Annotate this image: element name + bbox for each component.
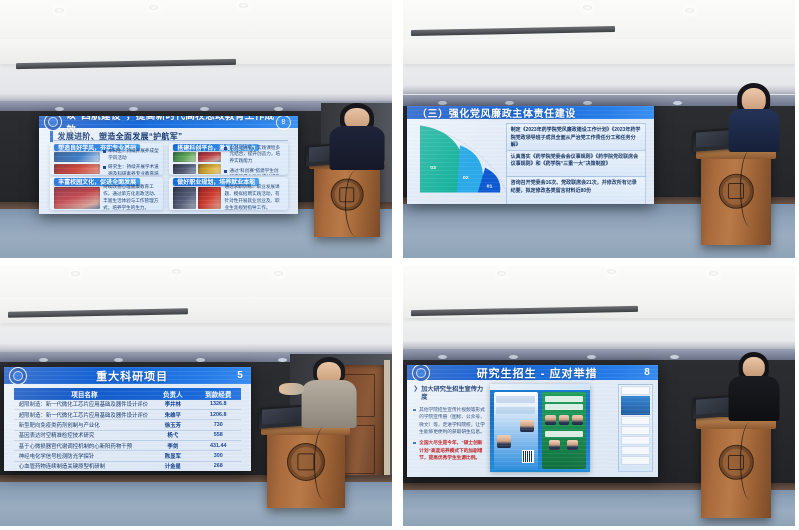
- lectern-podium: [701, 417, 772, 518]
- university-logo-icon: [412, 365, 430, 382]
- cable: [740, 150, 761, 227]
- side-panel-row: [621, 386, 650, 395]
- poster-blue-card: [494, 392, 538, 470]
- university-logo-icon: [9, 367, 27, 384]
- slide-major-research-projects: 重大科研项目 5 项目名称 负责人 到款经费 超限制造：新一代微化工芯片应用基础…: [4, 367, 251, 471]
- bullet-dot-icon: [103, 166, 106, 169]
- downlight-icon: [71, 271, 80, 276]
- fan-label-03: 03: [431, 166, 437, 171]
- slide-card: 搭建科创平台，激发创新活力 以基础课程、实践课程多元结合，提升创造力，培养实践能…: [169, 143, 288, 175]
- cable: [314, 427, 335, 500]
- lectern-podium: [701, 147, 772, 245]
- valance-spot-icon: [278, 358, 287, 362]
- photo-thumbnail: [198, 152, 221, 162]
- fan-chart: 03 02 01: [414, 123, 518, 198]
- poster-band: [545, 404, 584, 410]
- headshot-photo: [549, 440, 560, 450]
- side-panel-row: [621, 426, 650, 435]
- thumbnail-group: [54, 152, 100, 173]
- photo-thumbnail: [54, 187, 100, 209]
- valance-spot-icon: [196, 358, 205, 362]
- poster-band: [496, 396, 535, 402]
- thumbnail-group: [173, 187, 221, 209]
- speaker-person: [329, 103, 384, 170]
- side-panel-hero-image: [621, 396, 650, 415]
- slide-card: 丰富校园文化，促进全面发展 持续改善心理健康教育工作，通过单方化思政活动、丰富生…: [50, 177, 164, 210]
- cell-funding: 268: [196, 463, 241, 469]
- cable: [740, 422, 761, 500]
- photo-thumbnail: [173, 164, 196, 174]
- slide-header: （三）强化党风廉政主体责任建设: [407, 106, 654, 119]
- cell-funding: 1326.8: [196, 401, 241, 407]
- table-row: 神经电化学信号检测防光学探针 陈显军 300: [14, 451, 241, 461]
- projection-screen: 以“四航建设”，提高新时代高校思政教育工作成效 8 发展进阶、塑造全面发展“护航…: [39, 116, 298, 214]
- torso: [329, 126, 384, 170]
- column-header-funding: 到款经费: [196, 389, 241, 399]
- qr-code-icon: [522, 450, 535, 463]
- photo-thumbnail: [54, 152, 100, 162]
- cell-funding: 1206.8: [196, 412, 241, 418]
- downlight-icon: [55, 8, 64, 13]
- slide-text-column: ❯ 加大研究生招生宣传力度 其他学院招生宣传片视频等形式的学院宣传册（图标、公众…: [413, 386, 486, 471]
- downlight-icon: [607, 269, 616, 274]
- thumbnail-group: [173, 152, 221, 173]
- projection-screen: 研究生招生 - 应对举措 8 ❯ 加大研究生招生宣传力度 其他学院招生宣传片视频…: [407, 365, 658, 477]
- fan-label-01: 01: [487, 184, 493, 189]
- valance-spot-icon: [670, 355, 679, 359]
- speaker-person: [728, 352, 779, 422]
- arrow-bullet-icon: ❯: [413, 386, 418, 393]
- cell-lead: 徐玉芳: [150, 421, 195, 429]
- cell-funding: 730: [196, 422, 241, 428]
- headshot-photo: [572, 415, 583, 425]
- headshot-photo: [545, 415, 556, 425]
- column-header-project: 项目名称: [14, 389, 150, 399]
- slide-page-badge: 5: [237, 370, 243, 381]
- bullet-dot-icon: [103, 150, 106, 153]
- photo-grid: 以“四航建设”，提高新时代高校思政教育工作成效 8 发展进阶、塑造全面发展“护航…: [0, 0, 799, 530]
- valance-spot-icon: [39, 358, 48, 362]
- table-row: 心血管药物连续制造关键原型机研制 计金星 268: [14, 462, 241, 471]
- cell-funding: 431.44: [196, 443, 241, 449]
- valance-spot-icon: [438, 355, 447, 359]
- headshot-photo: [497, 435, 511, 447]
- cell-project: 神经电化学信号检测防光学探针: [14, 452, 150, 460]
- bullet-text: 以基础课程、实践课程多元结合，提升创造力，培养实践能力: [229, 145, 282, 165]
- slide-party-discipline: （三）强化党风廉政主体责任建设 03 02 01 制定: [407, 106, 654, 204]
- slide-card: 做好职业规划，培养就业本能 通过求职训练、职业发展课题、模拟招聘实践活动，有针对…: [169, 177, 288, 210]
- university-logo-icon: [44, 116, 62, 131]
- torso: [302, 380, 357, 428]
- divider: [50, 140, 288, 141]
- photo-thumbnail: [173, 187, 196, 209]
- speaker-person: [728, 83, 779, 153]
- text-block: 咨询召开党委会16次、党政联席会21次，并修改所有记录纪要，拟定修改各类留言材料…: [506, 176, 647, 203]
- cell-lead: 李剑: [150, 442, 195, 450]
- raised-arm: [279, 383, 304, 395]
- headshot-photo: [567, 440, 578, 450]
- bullet-dot-icon: [224, 147, 227, 150]
- photo-panel-top-left: 以“四航建设”，提高新时代高校思政教育工作成效 8 发展进阶、塑造全面发展“护航…: [0, 0, 392, 258]
- research-projects-table: 项目名称 负责人 到款经费 超限制造：新一代微化工芯片应用基础及器件设计评价 李…: [14, 388, 241, 465]
- cell-project: 基于心微损器官代谢调控机制的心新阳药物干预: [14, 442, 150, 450]
- poster-green-card: [542, 392, 586, 470]
- bullet-dot-icon: [224, 170, 227, 173]
- thumbnail-group: [54, 187, 100, 209]
- valance-spot-icon: [587, 355, 596, 359]
- ceiling-soffit: [403, 39, 795, 65]
- headshot-photo: [520, 420, 534, 432]
- side-panel-row: [621, 456, 650, 465]
- cell-project: 超限制造：新一代微化工芯片应用基础及器件设计评价: [14, 411, 150, 419]
- poster-band: [496, 407, 535, 413]
- side-panel-row: [621, 416, 650, 425]
- fan-label-02: 02: [463, 176, 469, 181]
- photo-panel-bottom-left: 重大科研项目 5 项目名称 负责人 到款经费 超限制造：新一代微化工芯片应用基础…: [0, 266, 392, 526]
- slide-header: 研究生招生 - 应对举措 8: [407, 365, 658, 381]
- valance-spot-icon: [114, 358, 123, 362]
- paragraph: 其他学院招生宣传片视频等形式的学院宣传册（图标、公众号、微文）等，走进学科院校，…: [413, 406, 486, 435]
- cell-lead: 计金星: [150, 462, 195, 470]
- bullet-text: 研究生：持续开展学术道德及科研素养专业教育培: [108, 164, 159, 174]
- slide-title: 研究生招生 - 应对举措: [430, 365, 644, 381]
- photo-thumbnail: [54, 164, 100, 174]
- cell-lead: 李井林: [150, 400, 195, 408]
- torso: [728, 109, 779, 152]
- downlight-icon: [239, 3, 248, 8]
- slide-header: 重大科研项目 5: [4, 367, 251, 384]
- paragraph-highlight: 全国大尽生是今年，“硕士创新计划”高度培养模式下的加剧增节，提高优秀学生生源比例…: [413, 439, 486, 461]
- slide-card: 塑造良好学风，夯实专业基础 本科生：持续开展养成型学风活动 研究生：持续开展学术…: [50, 143, 164, 175]
- slide-graduate-recruitment: 研究生招生 - 应对举措 8 ❯ 加大研究生招生宣传力度 其他学院招生宣传片视频…: [407, 365, 658, 477]
- cell-project: 心血管药物连续制造关键原型机研制: [14, 462, 150, 470]
- slide-title: 重大科研项目: [27, 368, 237, 384]
- bullet-text: 通过“科创赛”搭建学生创新实践平台推动成长提升: [229, 168, 282, 175]
- cell-funding: 558: [196, 432, 241, 438]
- door-frame: [384, 360, 390, 487]
- fan-chart-svg: 03 02 01: [414, 123, 518, 198]
- slide-page-badge: 8: [276, 116, 291, 130]
- section-heading: 加大研究生招生宣传力度: [421, 386, 486, 402]
- projection-screen: （三）强化党风廉政主体责任建设 03 02 01 制定: [407, 106, 654, 204]
- photo-thumbnail: [173, 152, 196, 162]
- photo-panel-bottom-right: 研究生招生 - 应对举措 8 ❯ 加大研究生招生宣传力度 其他学院招生宣传片视频…: [403, 266, 795, 526]
- table-row: 超限制造：新一代微化工芯片应用基础及器件设计评价 朱维平 1206.8: [14, 410, 241, 420]
- torso: [728, 376, 779, 421]
- poster-side-panel: [618, 384, 653, 472]
- poster-top-banner: [490, 384, 590, 390]
- slide-header: 以“四航建设”，提高新时代高校思政教育工作成效 8: [39, 116, 298, 128]
- table-row: 基因表达时空精准检控技术研究 杨弋 558: [14, 431, 241, 441]
- cell-lead: 杨弋: [150, 431, 195, 439]
- card-paragraph: 持续改善心理健康教育工作，通过单方化思政活动、丰富生活体验与工作管理方式，培养学…: [103, 184, 159, 210]
- poster-band: [545, 431, 584, 437]
- card-paragraph: 通过求职训练、职业发展课题、模拟招聘实践活动，有针对性开展就业创业及、职业生涯规…: [224, 184, 282, 210]
- fan-segment-02: [457, 146, 483, 193]
- table-row: 基于心微损器官代谢调控机制的心新阳药物干预 李剑 431.44: [14, 441, 241, 451]
- downlight-icon: [172, 269, 181, 274]
- poster-band: [545, 396, 584, 402]
- cell-funding: 300: [196, 453, 241, 459]
- photo-thumbnail: [198, 164, 221, 174]
- valance-spot-icon: [509, 355, 518, 359]
- cell-lead: 朱维平: [150, 411, 195, 419]
- table-row: 新型靶向免疫类药剂创制与产业化 徐玉芳 730: [14, 420, 241, 430]
- table-row: 超限制造：新一代微化工芯片应用基础及器件设计评价 李井林 1326.8: [14, 400, 241, 410]
- slide-four-constructions: 以“四航建设”，提高新时代高校思政教育工作成效 8 发展进阶、塑造全面发展“护航…: [39, 116, 298, 214]
- cell-lead: 陈显军: [150, 452, 195, 460]
- side-panel-row: [621, 436, 650, 445]
- column-header-lead: 负责人: [150, 389, 195, 399]
- slide-page-badge: 8: [644, 367, 650, 378]
- text-block: 制定《2023年药学院党风廉政建设工作计划》《2023年药学院党政领导班子成员全…: [506, 123, 647, 153]
- headshot-photo: [559, 415, 570, 425]
- cell-project: 基因表达时空精准检控技术研究: [14, 431, 150, 439]
- bullet-text: 本科生：持续开展养成型学风活动: [108, 148, 159, 161]
- photo-thumbnail: [198, 187, 221, 209]
- slide-title: （三）强化党风廉政主体责任建设: [417, 106, 576, 120]
- recruitment-poster: [490, 384, 590, 472]
- downlight-icon: [685, 8, 694, 13]
- side-panel-row: [621, 446, 650, 455]
- cell-project: 超限制造：新一代微化工芯片应用基础及器件设计评价: [14, 400, 150, 408]
- projection-screen: 重大科研项目 5 项目名称 负责人 到款经费 超限制造：新一代微化工芯片应用基础…: [4, 367, 251, 471]
- cell-project: 新型靶向免疫类药剂创制与产业化: [14, 421, 150, 429]
- speaker-person: [302, 357, 357, 430]
- photo-panel-top-right: （三）强化党风廉政主体责任建设 03 02 01 制定: [403, 0, 795, 258]
- text-block: 认真落实《药学院党委会会议事规则》《药学院党政联席会议事规则》和《药学院“三重一…: [506, 150, 647, 180]
- table-header-row: 项目名称 负责人 到款经费: [14, 388, 241, 400]
